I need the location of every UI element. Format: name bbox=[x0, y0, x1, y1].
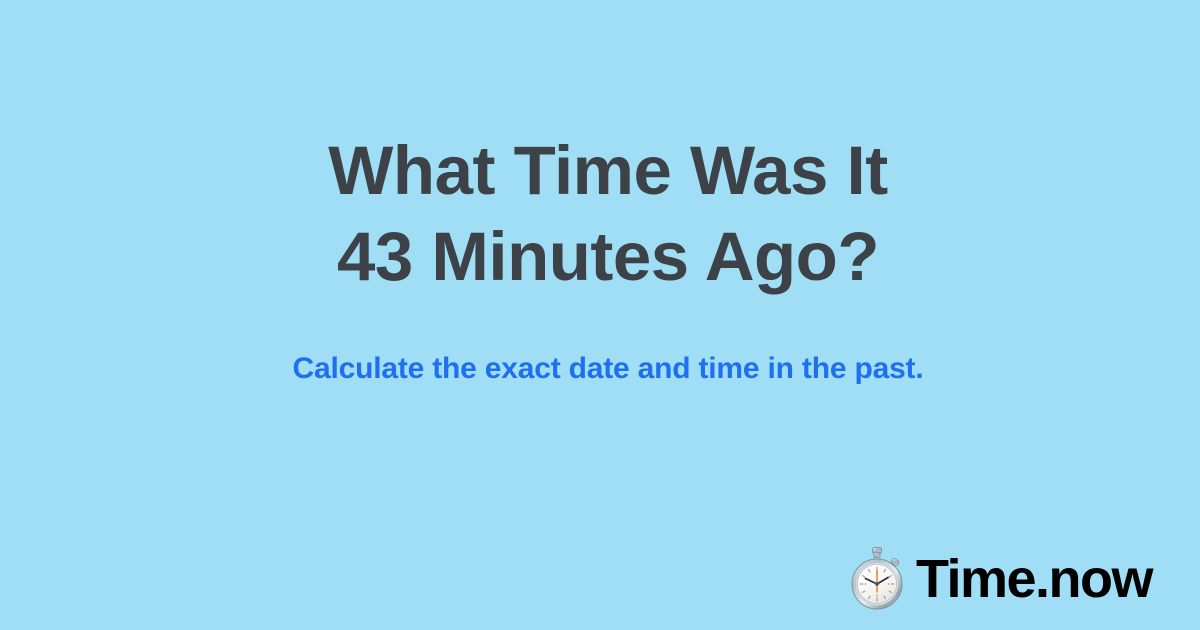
brand-lockup: Time.now bbox=[848, 546, 1152, 612]
hero-text-block: What Time Was It 43 Minutes Ago? Calcula… bbox=[0, 128, 1200, 388]
page-subtitle: Calculate the exact date and time in the… bbox=[8, 300, 1200, 388]
page-title-line-2: 43 Minutes Ago? bbox=[8, 214, 1200, 300]
page-title: What Time Was It 43 Minutes Ago? bbox=[8, 128, 1200, 300]
brand-name: Time.now bbox=[916, 549, 1152, 609]
og-preview-card: What Time Was It 43 Minutes Ago? Calcula… bbox=[0, 0, 1200, 630]
page-title-line-1: What Time Was It bbox=[8, 128, 1200, 214]
stopwatch-icon bbox=[848, 546, 906, 612]
